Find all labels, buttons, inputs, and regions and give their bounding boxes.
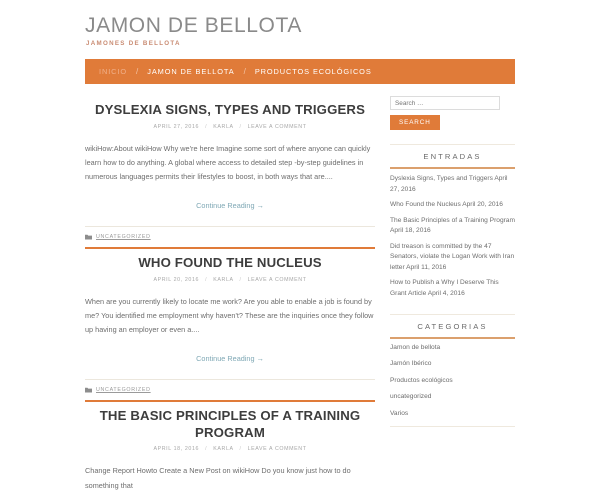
list-item: Dyslexia Signs, Types and Triggers April…: [390, 169, 515, 195]
article-excerpt: When are you currently likely to locate …: [85, 295, 375, 338]
list-item: Productos ecológicos: [390, 372, 515, 389]
article-author[interactable]: KARLA: [213, 277, 233, 283]
meta-separator: /: [239, 124, 241, 130]
categorias-widget-title: CATEGORIAS: [390, 314, 515, 339]
entradas-link[interactable]: The Basic Principles of a Training Progr…: [390, 217, 515, 235]
article-excerpt: wikiHow:About wikiHow Why we're here Ima…: [85, 142, 375, 185]
meta-separator: /: [205, 277, 207, 283]
site-title[interactable]: JAMON DE BELLOTA: [85, 14, 600, 37]
article-item: DYSLEXIA SIGNS, TYPES AND TRIGGERS APRIL…: [85, 102, 375, 249]
article-meta: APRIL 18, 2016 / KARLA / LEAVE A COMMENT: [85, 446, 375, 452]
article-title[interactable]: WHO FOUND THE NUCLEUS: [85, 255, 375, 272]
categorias-wrap: Jamon de bellota Jamón Ibérico Productos…: [390, 339, 515, 428]
entradas-widget: ENTRADAS Dyslexia Signs, Types and Trigg…: [390, 144, 515, 299]
article-author[interactable]: KARLA: [213, 446, 233, 452]
article-title[interactable]: DYSLEXIA SIGNS, TYPES AND TRIGGERS: [85, 102, 375, 119]
categoria-link[interactable]: Productos ecológicos: [390, 377, 453, 384]
entradas-link[interactable]: How to Publish a Why I Deserve This Gran…: [390, 279, 499, 297]
nav-item-inicio[interactable]: INICIO: [99, 67, 127, 76]
categoria-link[interactable]: uncategorized: [390, 393, 431, 400]
nav-separator: /: [244, 67, 246, 76]
nav-item-jamon-de-bellota[interactable]: JAMON DE BELLOTA: [147, 67, 234, 76]
article-date: APRIL 27, 2016: [153, 124, 199, 130]
categoria-link[interactable]: Varios: [390, 410, 408, 417]
article-meta: APRIL 27, 2016 / KARLA / LEAVE A COMMENT: [85, 124, 375, 130]
site-header: JAMON DE BELLOTA JAMONES DE BELLOTA: [0, 0, 600, 47]
categorias-list: Jamon de bellota Jamón Ibérico Productos…: [390, 339, 515, 422]
nav-separator: /: [136, 67, 138, 76]
folder-icon: [85, 387, 92, 393]
entradas-link[interactable]: Dyslexia Signs, Types and Triggers April…: [390, 175, 508, 193]
article-comments-link[interactable]: LEAVE A COMMENT: [248, 277, 307, 283]
list-item: uncategorized: [390, 388, 515, 405]
article-item: WHO FOUND THE NUCLEUS APRIL 20, 2016 / K…: [85, 255, 375, 402]
categoria-link[interactable]: Jamon de bellota: [390, 344, 440, 351]
continue-reading-link[interactable]: Continue Reading →: [196, 354, 264, 363]
article-divider: [85, 400, 375, 402]
list-item: How to Publish a Why I Deserve This Gran…: [390, 273, 515, 299]
list-item: The Basic Principles of a Training Progr…: [390, 211, 515, 237]
article-comments-link[interactable]: LEAVE A COMMENT: [248, 446, 307, 452]
article-category-link[interactable]: UNCATEGORIZED: [96, 387, 151, 393]
page-root: JAMON DE BELLOTA JAMONES DE BELLOTA INIC…: [0, 0, 600, 400]
list-item: Jamon de bellota: [390, 339, 515, 356]
sidebar: SEARCH ENTRADAS Dyslexia Signs, Types an…: [390, 96, 515, 500]
article-date: APRIL 18, 2016: [153, 446, 199, 452]
continue-reading-wrap: Continue Reading →: [85, 195, 375, 213]
main-navigation: INICIO / JAMON DE BELLOTA / PRODUCTOS EC…: [85, 59, 515, 84]
article-meta: APRIL 20, 2016 / KARLA / LEAVE A COMMENT: [85, 277, 375, 283]
article-item: THE BASIC PRINCIPLES OF A TRAINING PROGR…: [85, 408, 375, 492]
entradas-list: Dyslexia Signs, Types and Triggers April…: [390, 169, 515, 299]
continue-reading-wrap: Continue Reading →: [85, 348, 375, 366]
entradas-link[interactable]: Who Found the Nucleus April 20, 2016: [390, 201, 503, 208]
search-input[interactable]: [390, 96, 500, 110]
article-title[interactable]: THE BASIC PRINCIPLES OF A TRAINING PROGR…: [85, 408, 375, 441]
entradas-widget-title: ENTRADAS: [390, 144, 515, 169]
search-button[interactable]: SEARCH: [390, 115, 440, 130]
list-item: Varios: [390, 405, 515, 422]
list-item: Jamón Ibérico: [390, 355, 515, 372]
article-category-link[interactable]: UNCATEGORIZED: [96, 234, 151, 240]
meta-separator: /: [239, 277, 241, 283]
article-date: APRIL 20, 2016: [153, 277, 199, 283]
article-footer: UNCATEGORIZED: [85, 226, 375, 240]
list-item: Who Found the Nucleus April 20, 2016: [390, 195, 515, 211]
content-wrapper: DYSLEXIA SIGNS, TYPES AND TRIGGERS APRIL…: [85, 96, 515, 500]
folder-icon: [85, 234, 92, 240]
nav-item-productos-ecologicos[interactable]: PRODUCTOS ECOLÓGICOS: [255, 67, 372, 76]
article-comments-link[interactable]: LEAVE A COMMENT: [248, 124, 307, 130]
categoria-link[interactable]: Jamón Ibérico: [390, 360, 431, 367]
search-widget: SEARCH: [390, 96, 515, 130]
categorias-widget: CATEGORIAS Jamon de bellota Jamón Ibéric…: [390, 314, 515, 428]
main-content: DYSLEXIA SIGNS, TYPES AND TRIGGERS APRIL…: [85, 96, 375, 500]
article-footer: UNCATEGORIZED: [85, 379, 375, 393]
meta-separator: /: [205, 446, 207, 452]
article-divider: [85, 247, 375, 249]
article-author[interactable]: KARLA: [213, 124, 233, 130]
meta-separator: /: [205, 124, 207, 130]
list-item: Did treason is committed by the 47 Senat…: [390, 237, 515, 274]
article-excerpt: Change Report Howto Create a New Post on…: [85, 464, 375, 492]
continue-reading-link[interactable]: Continue Reading →: [196, 201, 264, 210]
meta-separator: /: [239, 446, 241, 452]
site-tagline: JAMONES DE BELLOTA: [86, 40, 600, 47]
entradas-link[interactable]: Did treason is committed by the 47 Senat…: [390, 243, 514, 271]
